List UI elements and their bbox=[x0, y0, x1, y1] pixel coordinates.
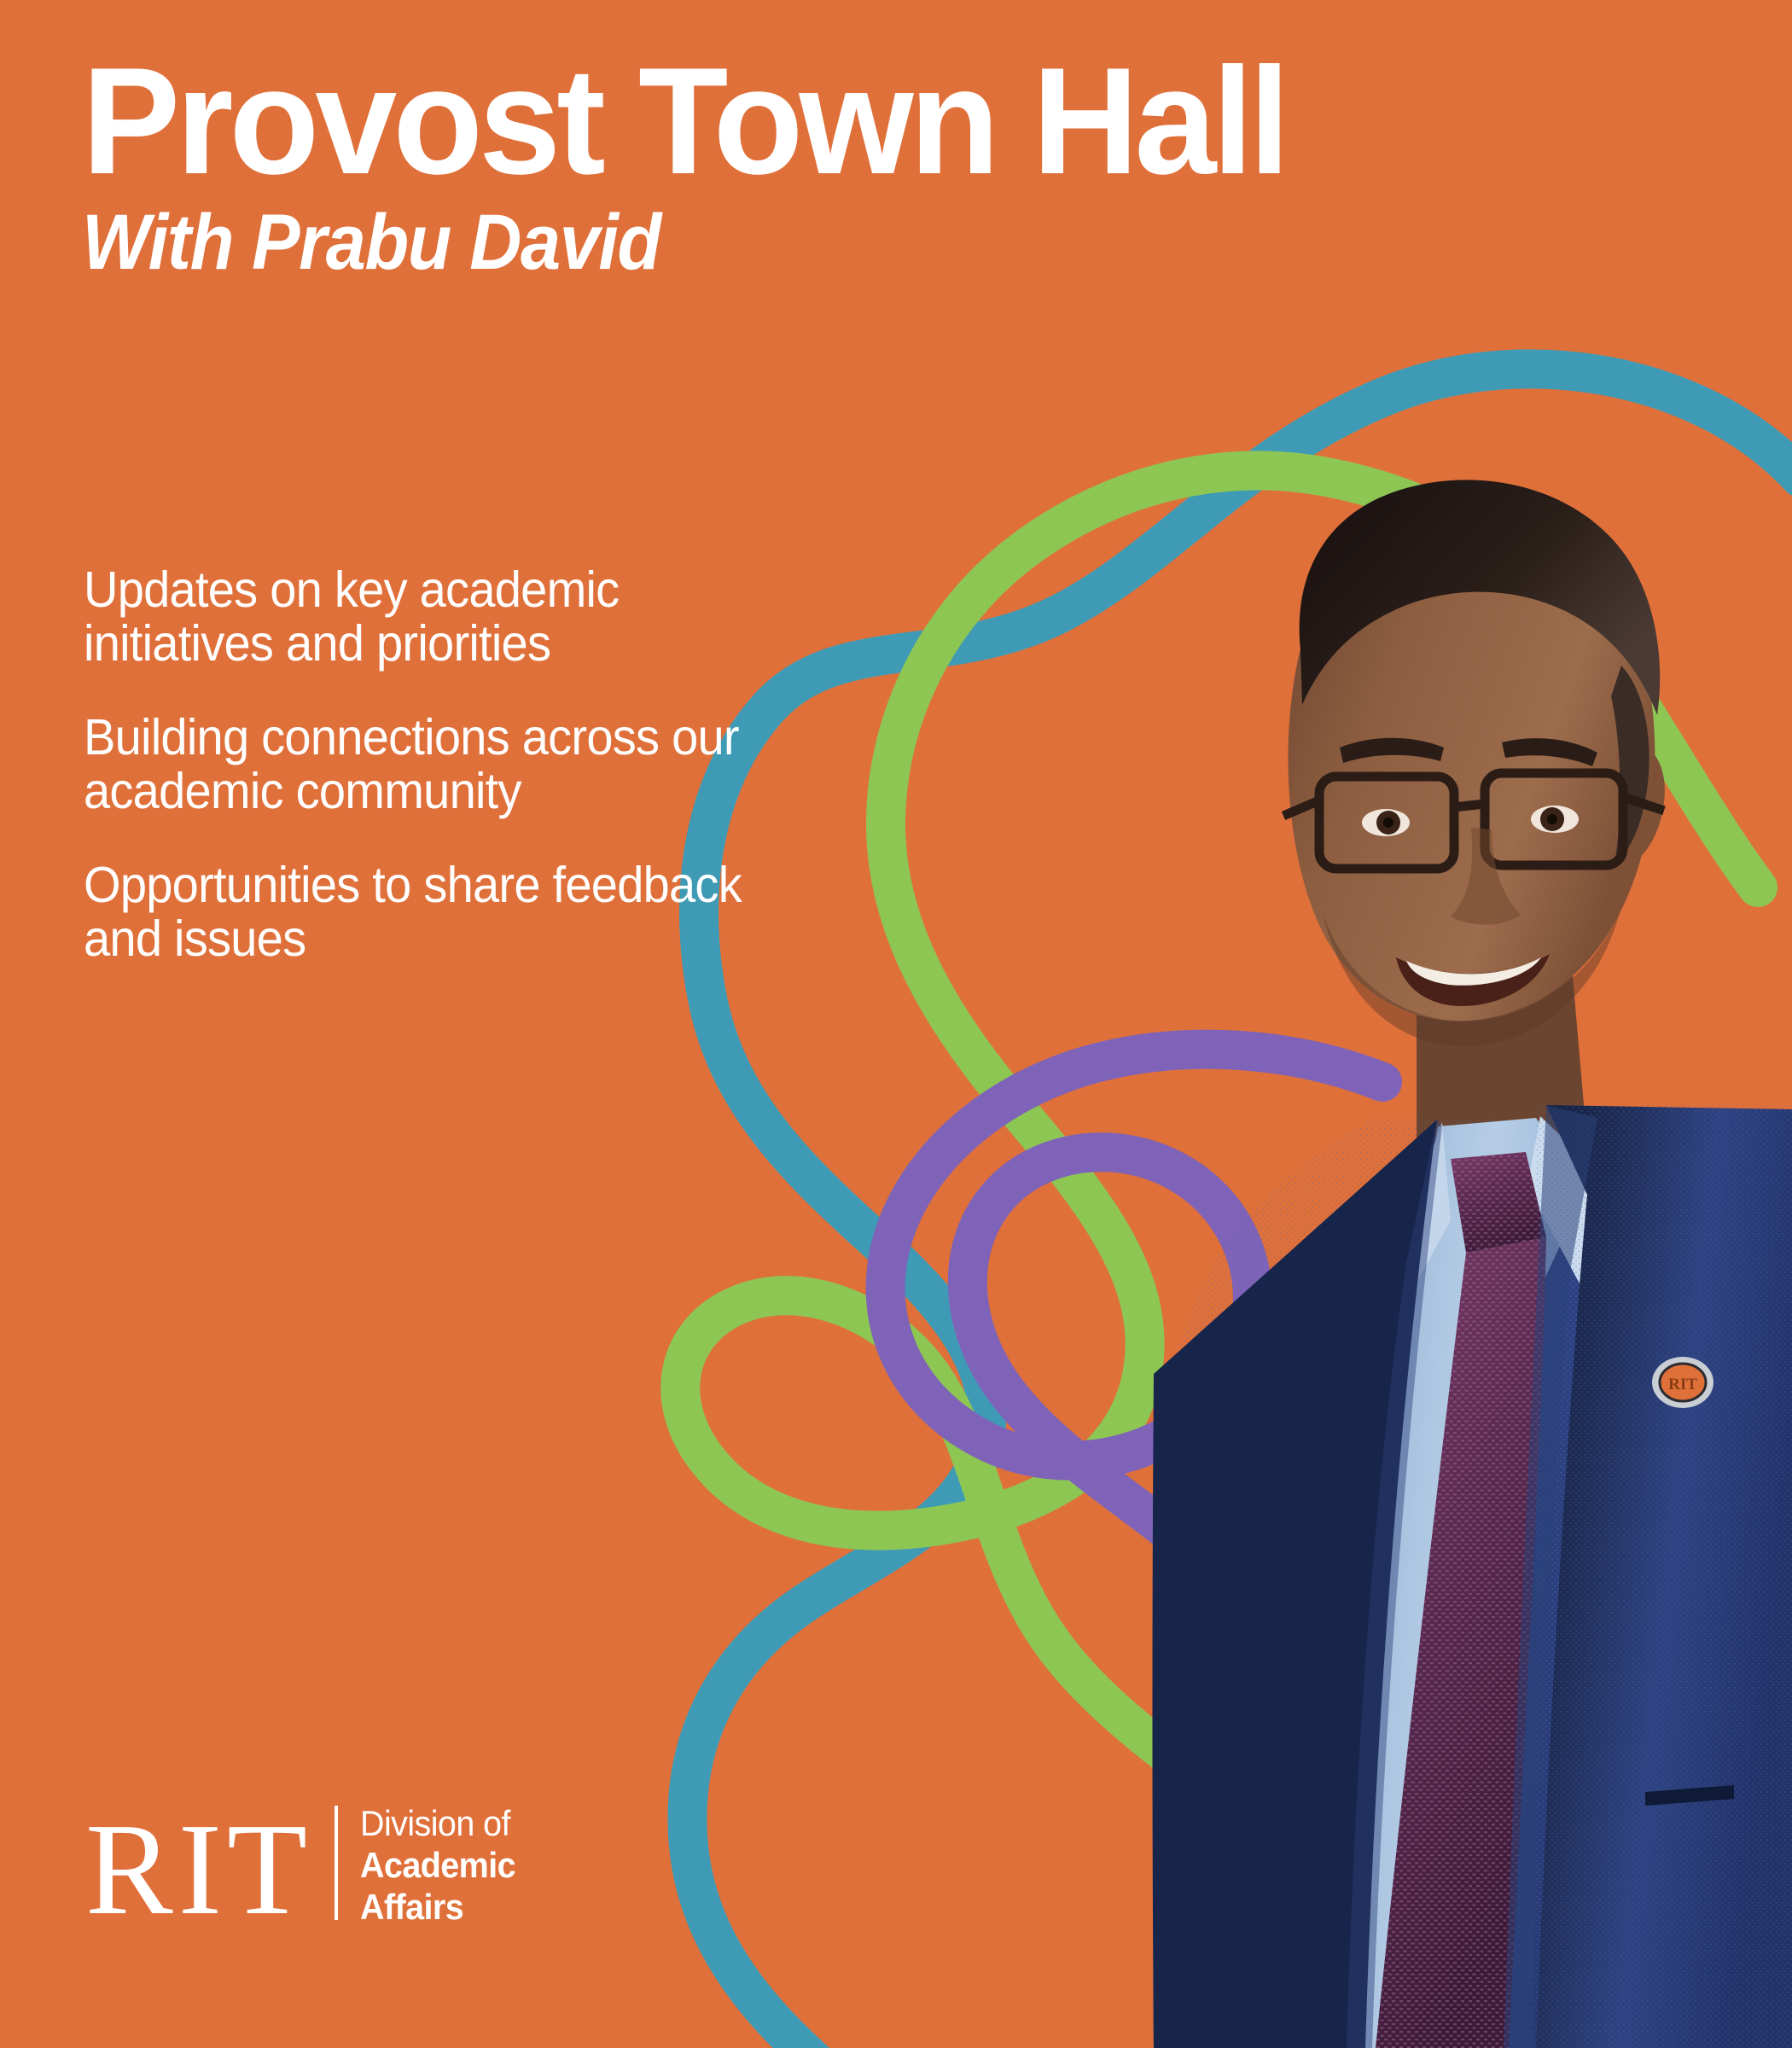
ribbon-green-path bbox=[680, 470, 1758, 1826]
logo-line-affairs: Affairs bbox=[360, 1886, 515, 1928]
eyes bbox=[1362, 806, 1579, 836]
ear-right bbox=[1606, 741, 1665, 869]
suit-body bbox=[1154, 1122, 1792, 2048]
head bbox=[1288, 512, 1655, 1021]
tie-body bbox=[1376, 1237, 1546, 2048]
lapel-right bbox=[1536, 1105, 1792, 2048]
eyebrow-right bbox=[1502, 738, 1597, 766]
collar-left bbox=[1399, 1122, 1451, 1314]
suit-shadow-edge bbox=[1154, 1207, 1468, 2048]
teeth bbox=[1406, 957, 1541, 986]
key-point-item: Building connections across our academic… bbox=[84, 711, 765, 817]
logo-unit-name: Division of Academic Affairs bbox=[360, 1801, 526, 1928]
dress-shirt bbox=[1340, 1118, 1587, 2048]
lapel-left-highlight bbox=[1347, 1120, 1442, 2048]
neck bbox=[1417, 947, 1587, 1169]
key-points-list: Updates on key academic initiatives and … bbox=[84, 563, 800, 965]
page-subtitle: With Prabu David bbox=[82, 203, 1620, 282]
hair bbox=[1300, 480, 1661, 715]
rit-logo-lockup: RIT Division of Academic Affairs bbox=[85, 1801, 526, 1935]
mouth bbox=[1396, 954, 1550, 1006]
eyebrow-left bbox=[1340, 738, 1444, 763]
key-point-item: Opportunities to share feedback and issu… bbox=[84, 858, 765, 965]
logo-line-academic: Academic bbox=[360, 1844, 515, 1886]
jaw-shadow bbox=[1323, 913, 1620, 1046]
rit-wordmark: RIT bbox=[85, 1801, 312, 1935]
logo-line-division: Division of bbox=[360, 1802, 515, 1844]
logo-divider bbox=[335, 1806, 338, 1920]
hair-temple bbox=[1611, 666, 1649, 865]
decorative-ribbons bbox=[0, 0, 1792, 2048]
ribbon-purple-path bbox=[886, 1050, 1382, 1783]
tie-knot bbox=[1451, 1152, 1546, 1253]
eyeglasses bbox=[1283, 773, 1664, 869]
lapel-left bbox=[1153, 1120, 1438, 2048]
ribbon-teal-path bbox=[687, 369, 1792, 2048]
lapel-right-texture bbox=[1536, 1105, 1792, 2048]
rit-lapel-pin: RIT bbox=[1652, 1357, 1713, 1408]
lapel-right-edge bbox=[1504, 1105, 1597, 2048]
collar-right bbox=[1527, 1116, 1596, 1285]
pocket-welt bbox=[1645, 1785, 1734, 1806]
key-point-item: Updates on key academic initiatives and … bbox=[84, 563, 765, 670]
page-title: Provost Town Hall bbox=[82, 51, 1704, 191]
svg-text:RIT: RIT bbox=[1668, 1376, 1697, 1393]
suit-texture bbox=[1152, 1118, 1792, 2048]
tie-texture bbox=[1376, 1152, 1546, 2048]
headline-block: Provost Town Hall With Prabu David bbox=[82, 51, 1754, 282]
poster-canvas: RIT bbox=[0, 0, 1792, 2048]
nose bbox=[1451, 828, 1521, 925]
provost-portrait: RIT bbox=[939, 265, 1792, 2048]
